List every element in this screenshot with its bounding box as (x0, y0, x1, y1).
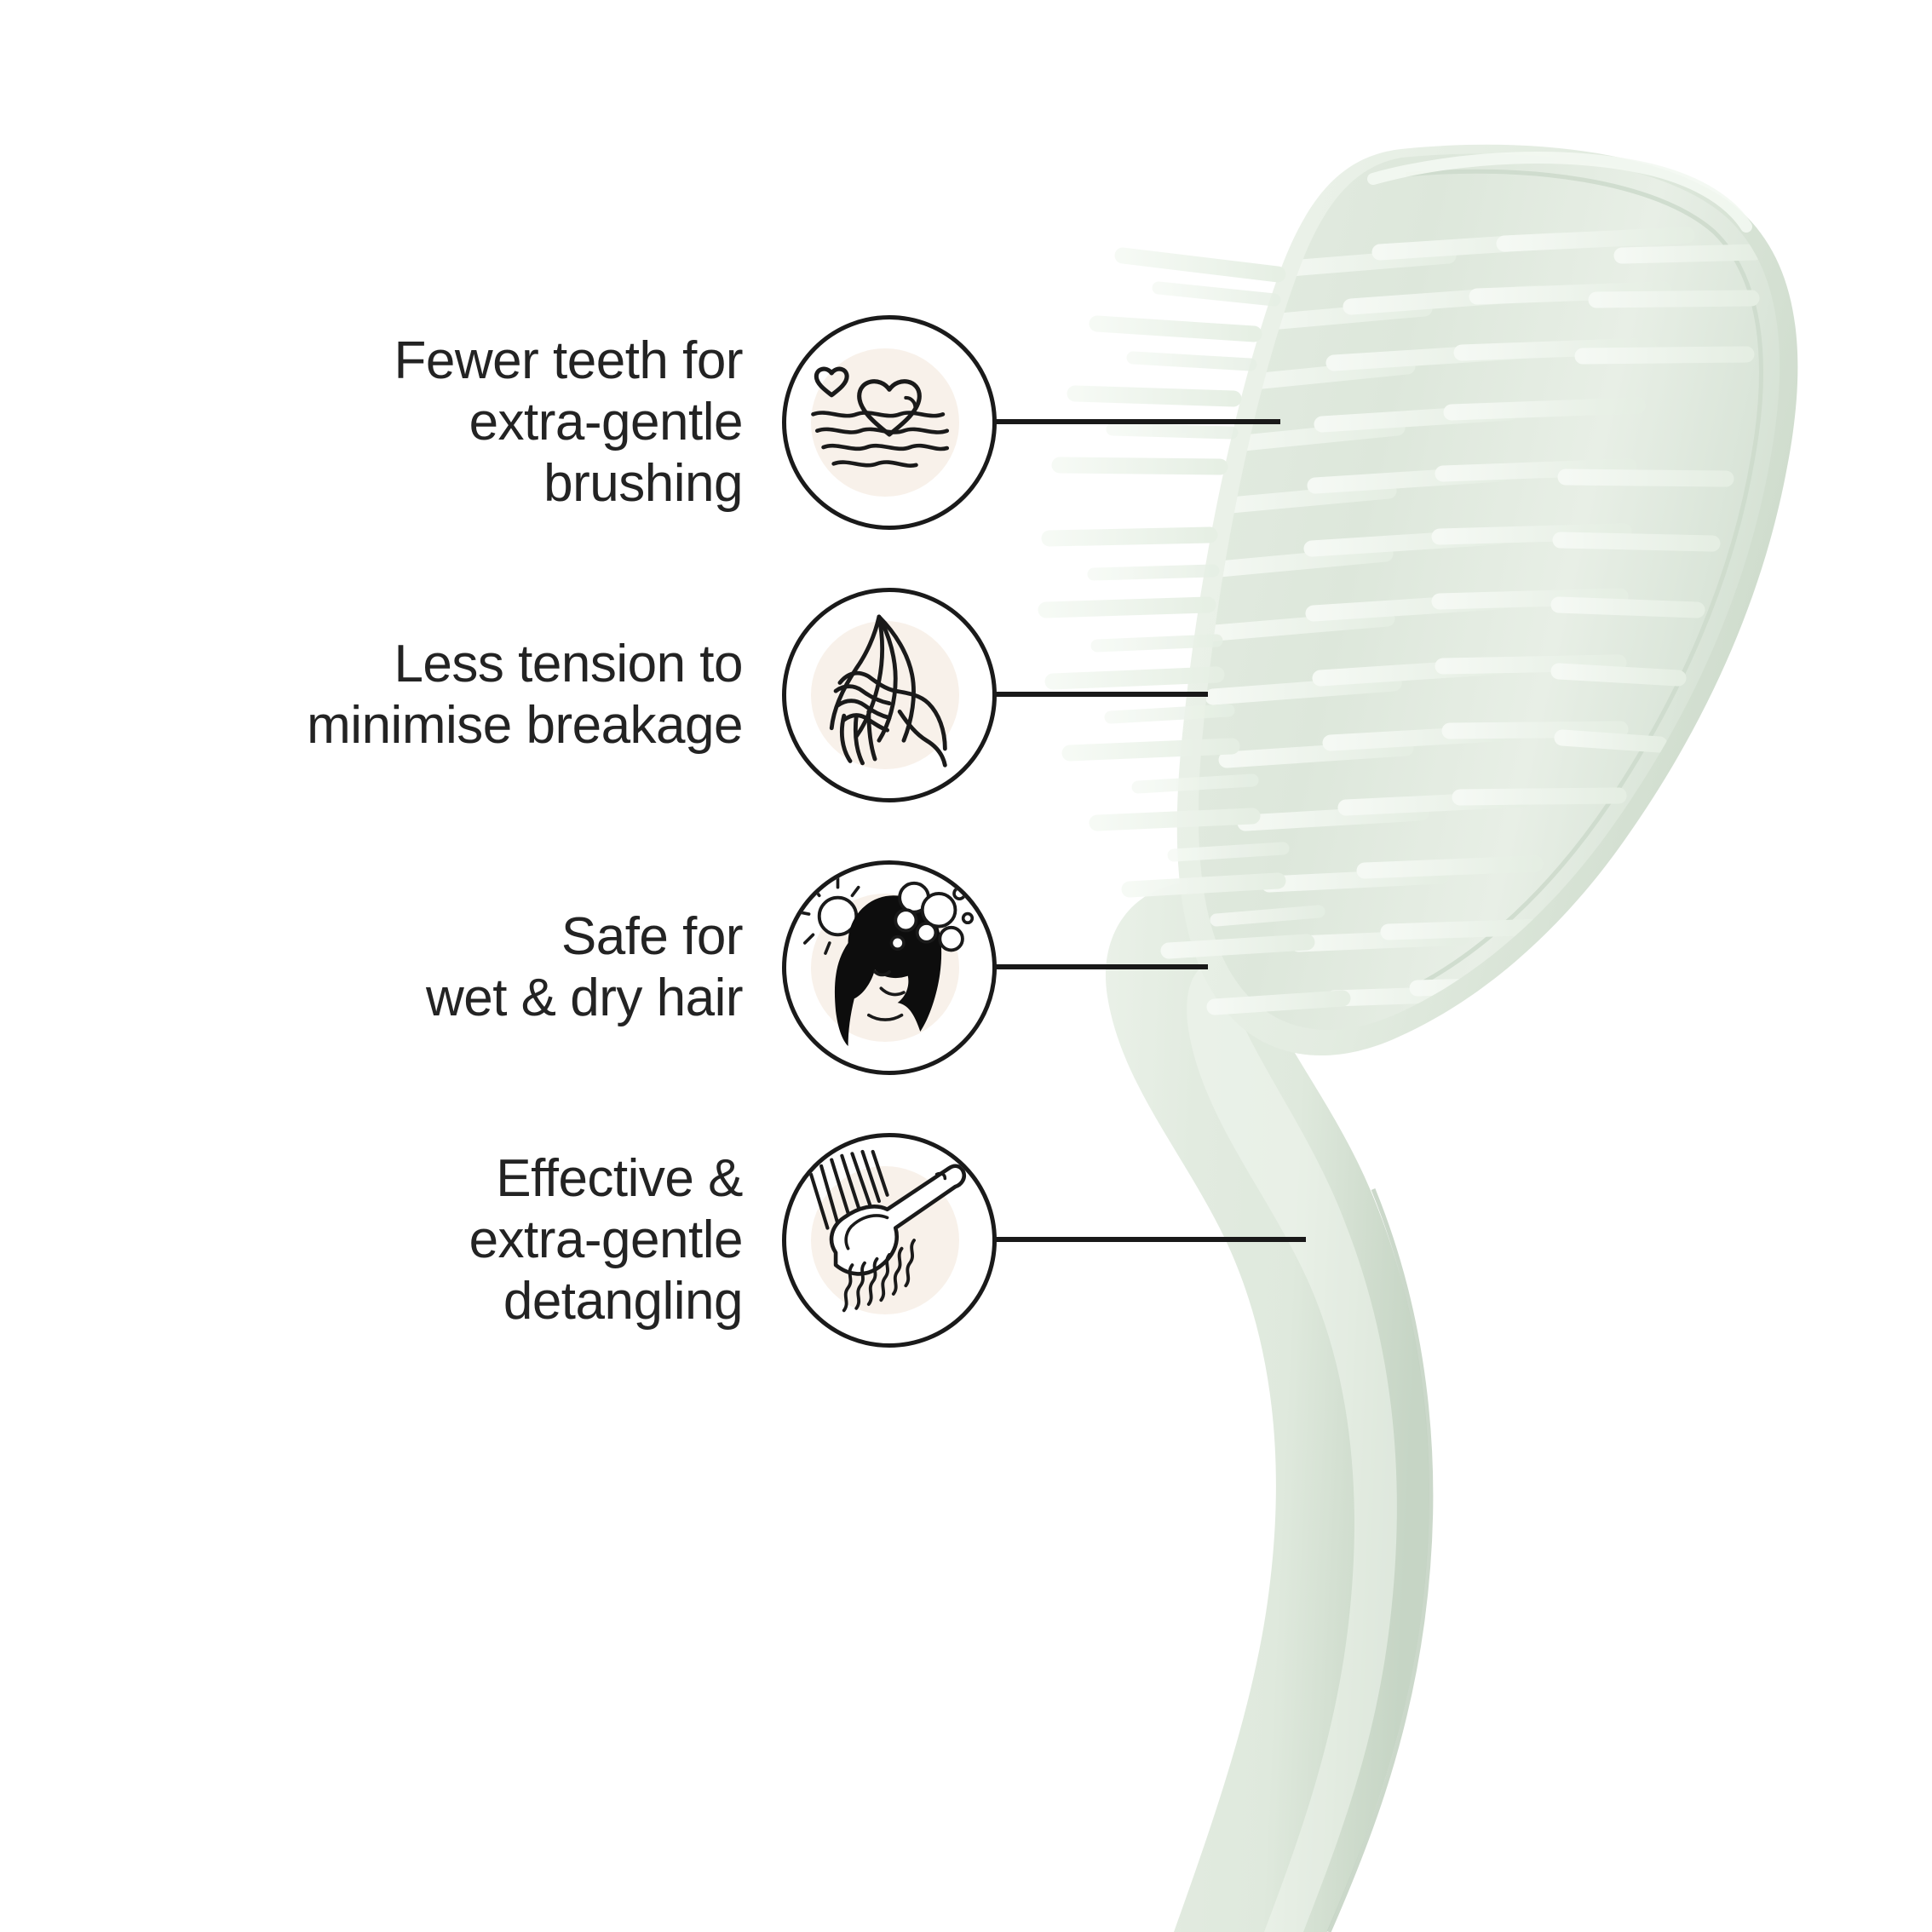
feature-label-wet-dry-safe: Safe for wet & dry hair (426, 906, 782, 1029)
brush-head (1177, 145, 1798, 1055)
feature-row-wet-dry-safe: Safe for wet & dry hair (221, 860, 997, 1075)
connector-line-2 (991, 692, 1208, 697)
feature-label-effective-detangling: Effective & extra-gentle detangling (469, 1148, 782, 1332)
connector-line-3 (991, 964, 1208, 969)
connector-line-1 (991, 419, 1280, 424)
hand-holding-hair-icon (782, 588, 997, 802)
brush-handle (1106, 883, 1431, 1932)
connector-line-4 (991, 1237, 1306, 1242)
feature-row-effective-detangling: Effective & extra-gentle detangling (187, 1133, 997, 1348)
brush-comb-hair-icon (782, 1133, 997, 1348)
feature-label-less-tension: Less tension to minimise breakage (307, 634, 782, 756)
feature-row-less-tension: Less tension to minimise breakage (51, 588, 997, 802)
feature-row-fewer-teeth: Fewer teeth for extra-gentle brushing (102, 315, 997, 530)
feature-label-fewer-teeth: Fewer teeth for extra-gentle brushing (394, 331, 782, 515)
woman-shampoo-bubbles-icon (782, 860, 997, 1075)
hearts-waves-icon (782, 315, 997, 530)
brush-bristles (1046, 235, 1755, 1007)
infographic-canvas: Fewer teeth for extra-gentle brushing Le… (0, 0, 1932, 1932)
